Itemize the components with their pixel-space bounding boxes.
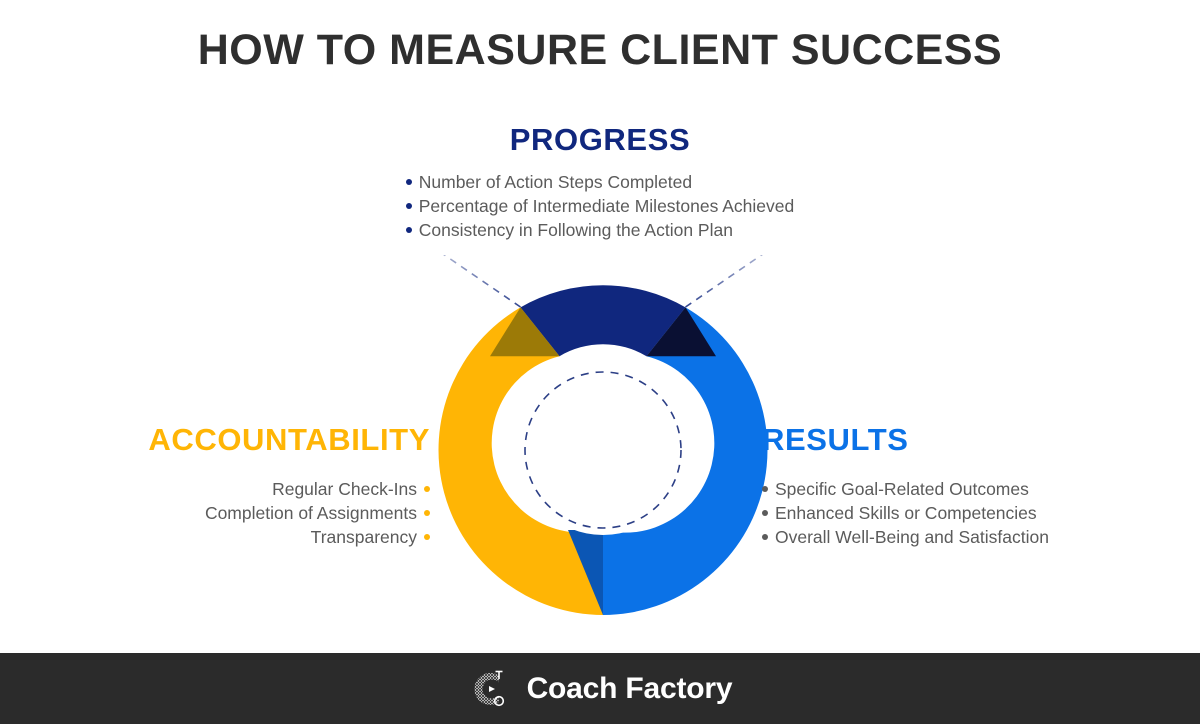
page-title: HOW TO MEASURE CLIENT SUCCESS <box>0 26 1200 75</box>
results-heading: RESULTS <box>762 424 909 455</box>
list-item-label: Number of Action Steps Completed <box>419 170 692 194</box>
bullet-dot-icon <box>762 486 768 492</box>
leader-line-upper-right <box>686 255 821 307</box>
bullet-dot-icon <box>406 203 412 209</box>
section-results: RESULTS Specific Goal-Related Outcomes E… <box>762 424 1162 549</box>
bullet-dot-icon <box>424 510 430 516</box>
list-item: Regular Check-Ins <box>205 477 430 501</box>
bullet-dot-icon <box>424 534 430 540</box>
list-item: Percentage of Intermediate Milestones Ac… <box>406 194 795 218</box>
progress-bullet-list: Number of Action Steps Completed Percent… <box>406 170 795 242</box>
list-item-label: Specific Goal-Related Outcomes <box>775 477 1029 501</box>
donut-hole <box>518 365 688 535</box>
list-item: Consistency in Following the Action Plan <box>406 218 795 242</box>
section-accountability: ACCOUNTABILITY Regular Check-Ins Complet… <box>40 424 430 549</box>
bullet-dot-icon <box>406 227 412 233</box>
leader-line-upper-left <box>386 255 521 307</box>
list-item: Specific Goal-Related Outcomes <box>762 477 1049 501</box>
accountability-heading: ACCOUNTABILITY <box>148 424 430 455</box>
list-item-label: Overall Well-Being and Satisfaction <box>775 525 1049 549</box>
list-item-label: Transparency <box>311 525 417 549</box>
list-item: Completion of Assignments <box>205 501 430 525</box>
list-item: Overall Well-Being and Satisfaction <box>762 525 1049 549</box>
list-item-label: Regular Check-Ins <box>272 477 417 501</box>
list-item-label: Consistency in Following the Action Plan <box>419 218 733 242</box>
footer-bar: Coach Factory <box>0 653 1200 724</box>
section-progress: PROGRESS Number of Action Steps Complete… <box>0 124 1200 242</box>
list-item-label: Percentage of Intermediate Milestones Ac… <box>419 194 795 218</box>
list-item: Transparency <box>205 525 430 549</box>
cycle-donut-diagram <box>378 255 828 655</box>
list-item-label: Completion of Assignments <box>205 501 417 525</box>
bullet-dot-icon <box>762 534 768 540</box>
list-item-label: Enhanced Skills or Competencies <box>775 501 1037 525</box>
coach-factory-logo-icon <box>468 666 514 712</box>
list-item: Enhanced Skills or Competencies <box>762 501 1049 525</box>
progress-heading: PROGRESS <box>510 124 691 155</box>
accountability-bullet-list: Regular Check-Ins Completion of Assignme… <box>205 477 430 549</box>
list-item: Number of Action Steps Completed <box>406 170 795 194</box>
infographic-canvas: HOW TO MEASURE CLIENT SUCCESS <box>0 0 1200 724</box>
brand-name: Coach Factory <box>527 672 733 706</box>
results-bullet-list: Specific Goal-Related Outcomes Enhanced … <box>762 477 1049 549</box>
bullet-dot-icon <box>762 510 768 516</box>
bullet-dot-icon <box>406 179 412 185</box>
bullet-dot-icon <box>424 486 430 492</box>
